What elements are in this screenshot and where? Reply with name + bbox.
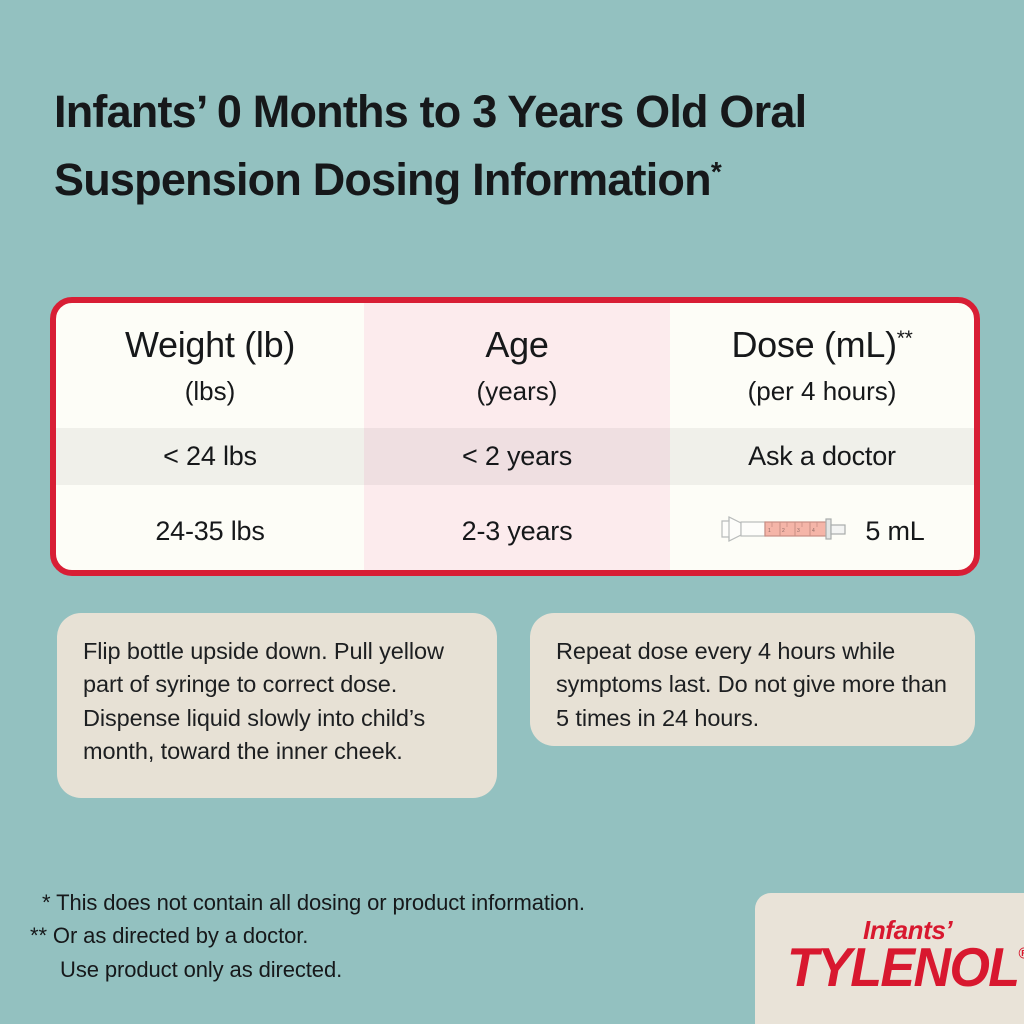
brand-logo-name-text: TYLENOL [787, 937, 1018, 998]
row-2-dose-content: 1 2 3 4 [670, 509, 974, 554]
brand-logo-name: TYLENOL® [787, 936, 1024, 1000]
page-title-line-1: Infants’ 0 Months to 3 Years Old Oral [54, 86, 806, 137]
row-2-age: 2-3 years [364, 485, 670, 576]
dosing-table-element: Weight (lb) (lbs) Age (years) Dose (mL)*… [56, 303, 974, 576]
column-header-dose-title: Dose (mL)** [670, 325, 974, 365]
row-2-weight: 24-35 lbs [56, 485, 364, 576]
brand-logo-panel: Infants’ TYLENOL® [755, 893, 1024, 1024]
frequency-instructions-box: Repeat dose every 4 hours while symptoms… [530, 613, 975, 746]
column-header-dose: Dose (mL)** (per 4 hours) [670, 303, 974, 428]
column-header-age-subtitle: (years) [364, 377, 670, 406]
page-title-footnote-marker: * [711, 156, 722, 187]
dispensing-instructions-text: Flip bottle upside down. Pull yellow par… [83, 638, 444, 764]
table-header-row: Weight (lb) (lbs) Age (years) Dose (mL)*… [56, 303, 974, 428]
column-header-weight: Weight (lb) (lbs) [56, 303, 364, 428]
column-header-dose-footnote-marker: ** [897, 327, 913, 350]
row-1-dose: Ask a doctor [670, 428, 974, 485]
row-1-weight: < 24 lbs [56, 428, 364, 485]
oral-syringe-icon: 1 2 3 4 [719, 509, 849, 554]
brand-logo: Infants’ TYLENOL® [755, 893, 1024, 1024]
svg-text:1: 1 [768, 528, 771, 534]
page-title-line-2: Suspension Dosing Information [54, 154, 711, 205]
row-1-age: < 2 years [364, 428, 670, 485]
column-header-weight-subtitle: (lbs) [56, 377, 364, 406]
column-header-age: Age (years) [364, 303, 670, 428]
svg-text:4: 4 [812, 528, 815, 534]
column-header-dose-text: Dose (mL) [731, 324, 896, 365]
dosing-info-graphic: Infants’ 0 Months to 3 Years Old Oral Su… [0, 0, 1024, 1024]
dispensing-instructions-box: Flip bottle upside down. Pull yellow par… [57, 613, 497, 798]
row-2-dose-value: 5 mL [865, 516, 924, 547]
dosing-table-grid: Weight (lb) (lbs) Age (years) Dose (mL)*… [56, 303, 974, 570]
footnotes: * This does not contain all dosing or pr… [30, 886, 730, 986]
column-header-weight-title: Weight (lb) [56, 325, 364, 365]
column-header-dose-subtitle: (per 4 hours) [670, 377, 974, 406]
footnote-2: ** Or as directed by a doctor. [30, 919, 730, 952]
dosing-table: Weight (lb) (lbs) Age (years) Dose (mL)*… [50, 297, 980, 576]
page-title: Infants’ 0 Months to 3 Years Old Oral Su… [54, 78, 984, 215]
svg-text:2: 2 [782, 528, 785, 534]
row-2-dose-cell: 1 2 3 4 [670, 485, 974, 576]
footnote-3: Use product only as directed. [30, 953, 730, 986]
table-row: 24-35 lbs 2-3 years [56, 485, 974, 576]
table-row: < 24 lbs < 2 years Ask a doctor [56, 428, 974, 485]
svg-text:3: 3 [797, 528, 800, 534]
frequency-instructions-text: Repeat dose every 4 hours while symptoms… [556, 638, 947, 731]
column-header-age-title: Age [364, 325, 670, 365]
footnote-1: * This does not contain all dosing or pr… [30, 886, 730, 919]
registered-trademark-icon: ® [1018, 944, 1024, 962]
